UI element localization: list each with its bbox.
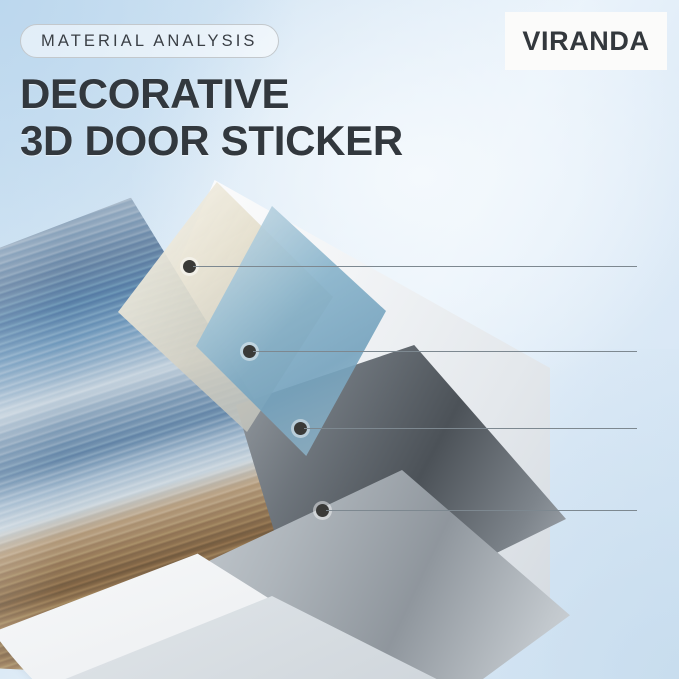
infographic-canvas: MATERIAL ANALYSIS DECORATIVE 3D DOOR STI… (0, 0, 679, 679)
brand-logo-text: VIRANDA (522, 26, 649, 57)
product-artwork (0, 170, 560, 679)
callout-leader-1 (193, 266, 637, 267)
callout-leader-2 (253, 351, 637, 352)
callout-leader-4 (326, 510, 637, 511)
material-analysis-badge: MATERIAL ANALYSIS (20, 24, 279, 58)
brand-logo: VIRANDA (505, 12, 667, 70)
page-title-line-2: 3D DOOR STICKER (20, 117, 403, 165)
callout-leader-3 (304, 428, 637, 429)
page-title-line-1: DECORATIVE (20, 70, 289, 118)
